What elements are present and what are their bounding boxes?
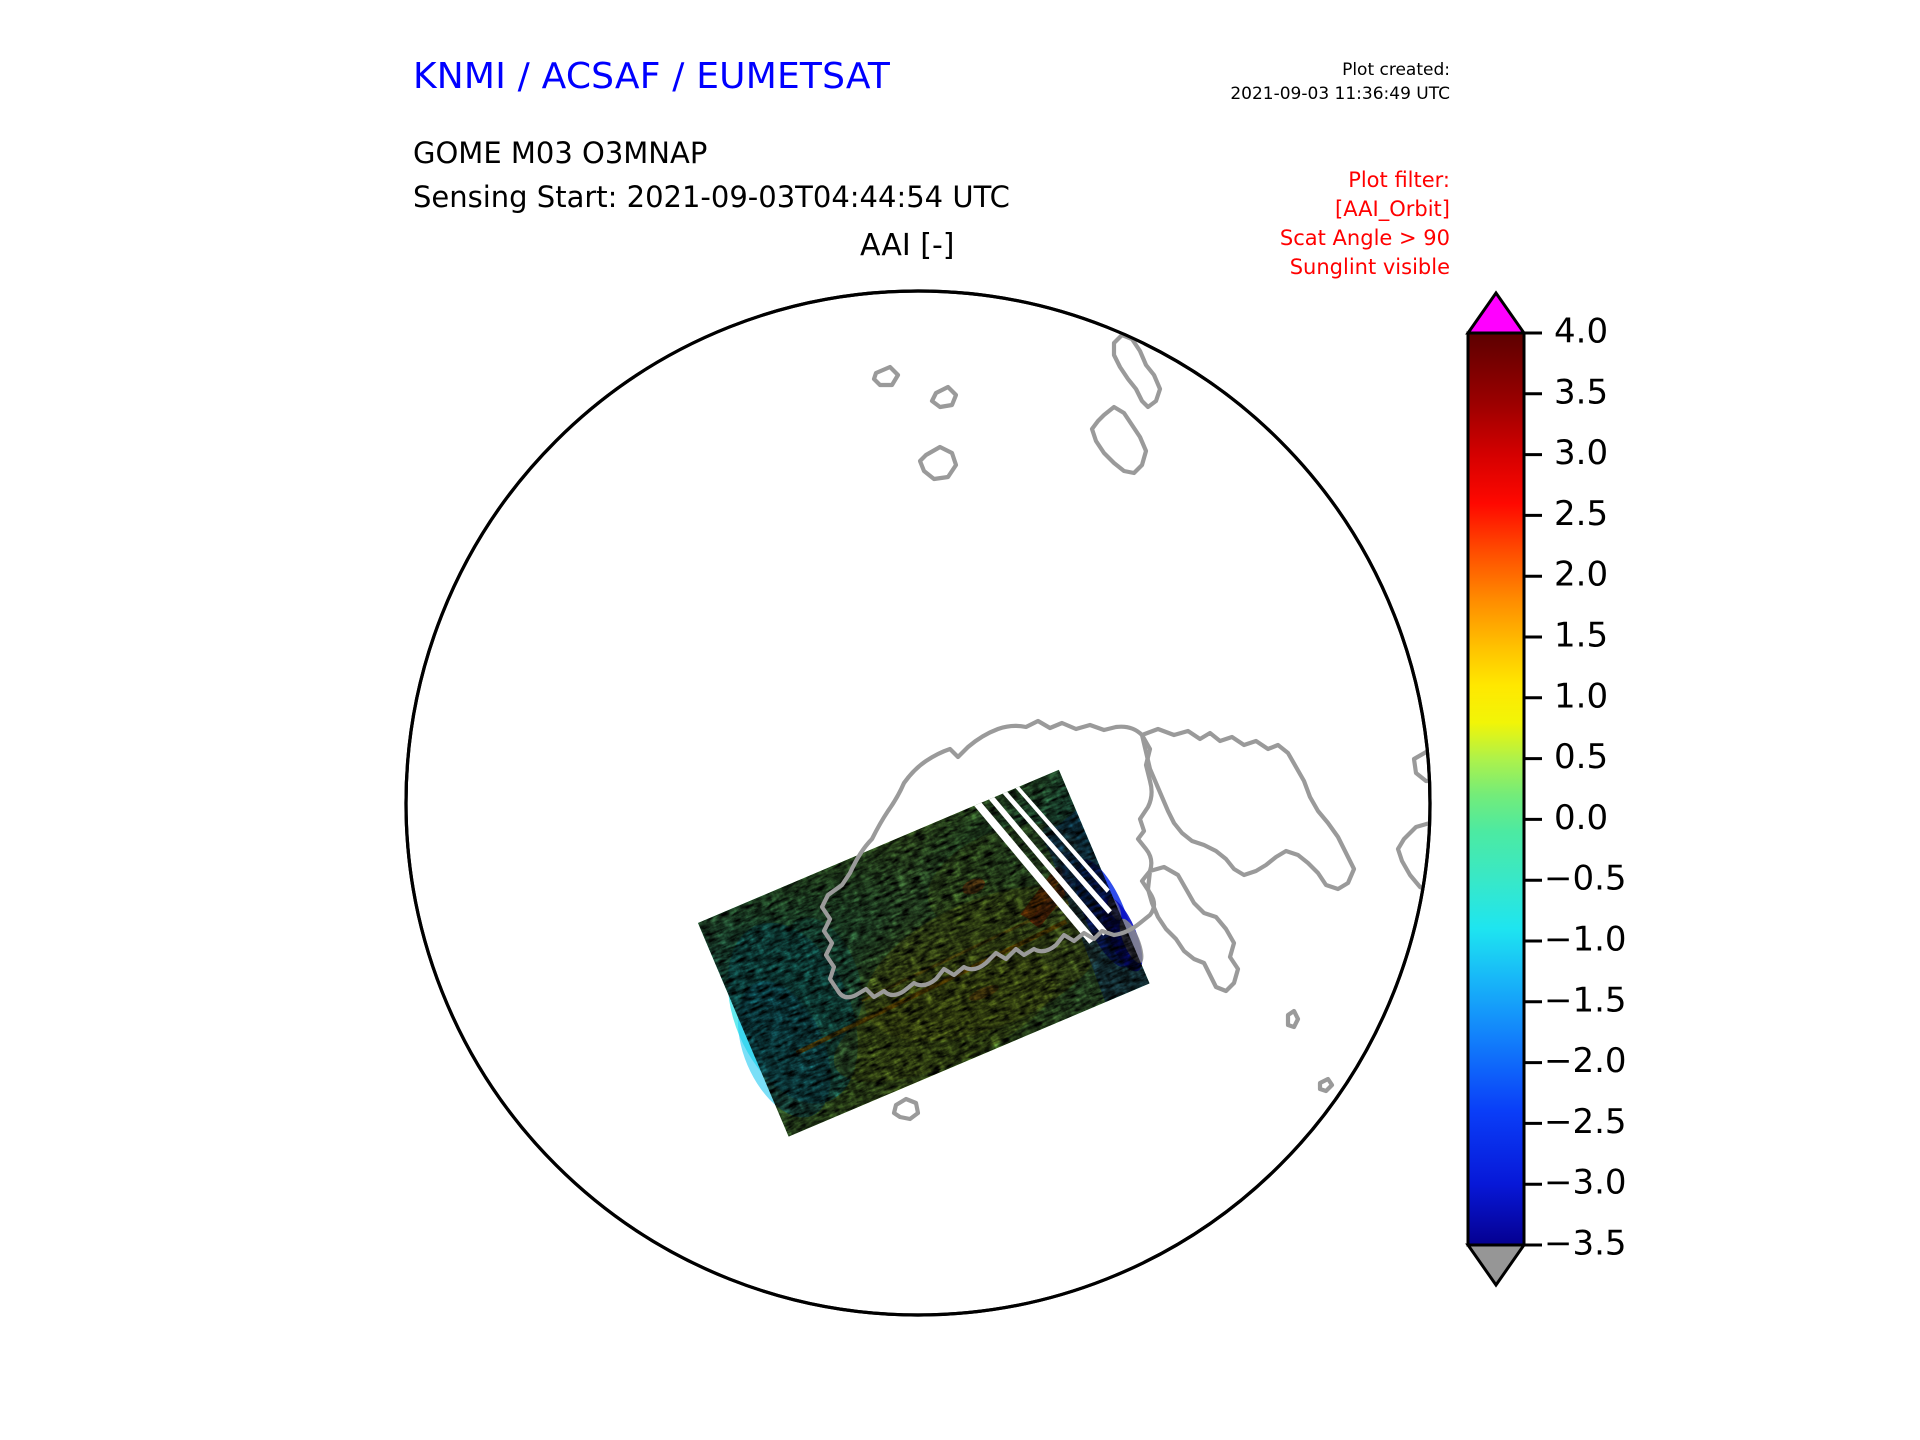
map-panel [398,283,1438,1323]
colorbar-tick-label: 3.0 [1554,433,1608,473]
colorbar-tick-label: 1.0 [1554,676,1608,716]
plot-filter-sunglint: Sunglint visible [1280,253,1450,282]
colorbar-tick-label: −1.5 [1544,980,1627,1020]
colorbar-tick-label: 0.5 [1554,737,1608,777]
colorbar: 4.0 3.5 3.0 2.5 2.0 1.5 1.0 0.5 0.0 −0.5… [1452,285,1702,1305]
plot-filter-label: Plot filter: [1280,166,1450,195]
colorbar-tick-label: −0.5 [1544,859,1627,899]
plot-filter-orbit: [AAI_Orbit] [1280,195,1450,224]
colorbar-tick-label: −2.0 [1544,1041,1627,1081]
colorbar-tick-label: 0.0 [1554,798,1608,838]
colorbar-over-arrow [1468,293,1524,333]
colorbar-tick-label: 2.0 [1554,555,1608,595]
colorbar-tick-label: 4.0 [1554,312,1608,352]
plot-filter-block: Plot filter: [AAI_Orbit] Scat Angle > 90… [1280,166,1450,282]
colorbar-under-arrow [1468,1245,1524,1285]
colorbar-tick-label: −3.0 [1544,1163,1627,1203]
brand-title: KNMI / ACSAF / EUMETSAT [413,56,890,97]
plot-created-block: Plot created: 2021-09-03 11:36:49 UTC [1230,58,1450,106]
colorbar-tick-label: −3.5 [1544,1224,1627,1264]
plot-variable-title: AAI [-] [860,228,955,263]
colorbar-gradient [1468,333,1524,1245]
plot-created-timestamp: 2021-09-03 11:36:49 UTC [1230,82,1450,106]
colorbar-tick-label: 1.5 [1554,616,1608,656]
colorbar-tick-label: 3.5 [1554,372,1608,412]
plot-created-label: Plot created: [1230,58,1450,82]
colorbar-tick-labels: 4.0 3.5 3.0 2.5 2.0 1.5 1.0 0.5 0.0 −0.5… [1544,312,1627,1264]
colorbar-tick-label: 2.5 [1554,494,1608,534]
product-title: GOME M03 O3MNAP [413,136,707,170]
colorbar-tick-label: −2.5 [1544,1102,1627,1142]
colorbar-tick-label: −1.0 [1544,920,1627,960]
sensing-start-label: Sensing Start: 2021-09-03T04:44:54 UTC [413,180,1010,214]
plot-filter-scat-angle: Scat Angle > 90 [1280,224,1450,253]
globe-disc [406,291,1430,1315]
